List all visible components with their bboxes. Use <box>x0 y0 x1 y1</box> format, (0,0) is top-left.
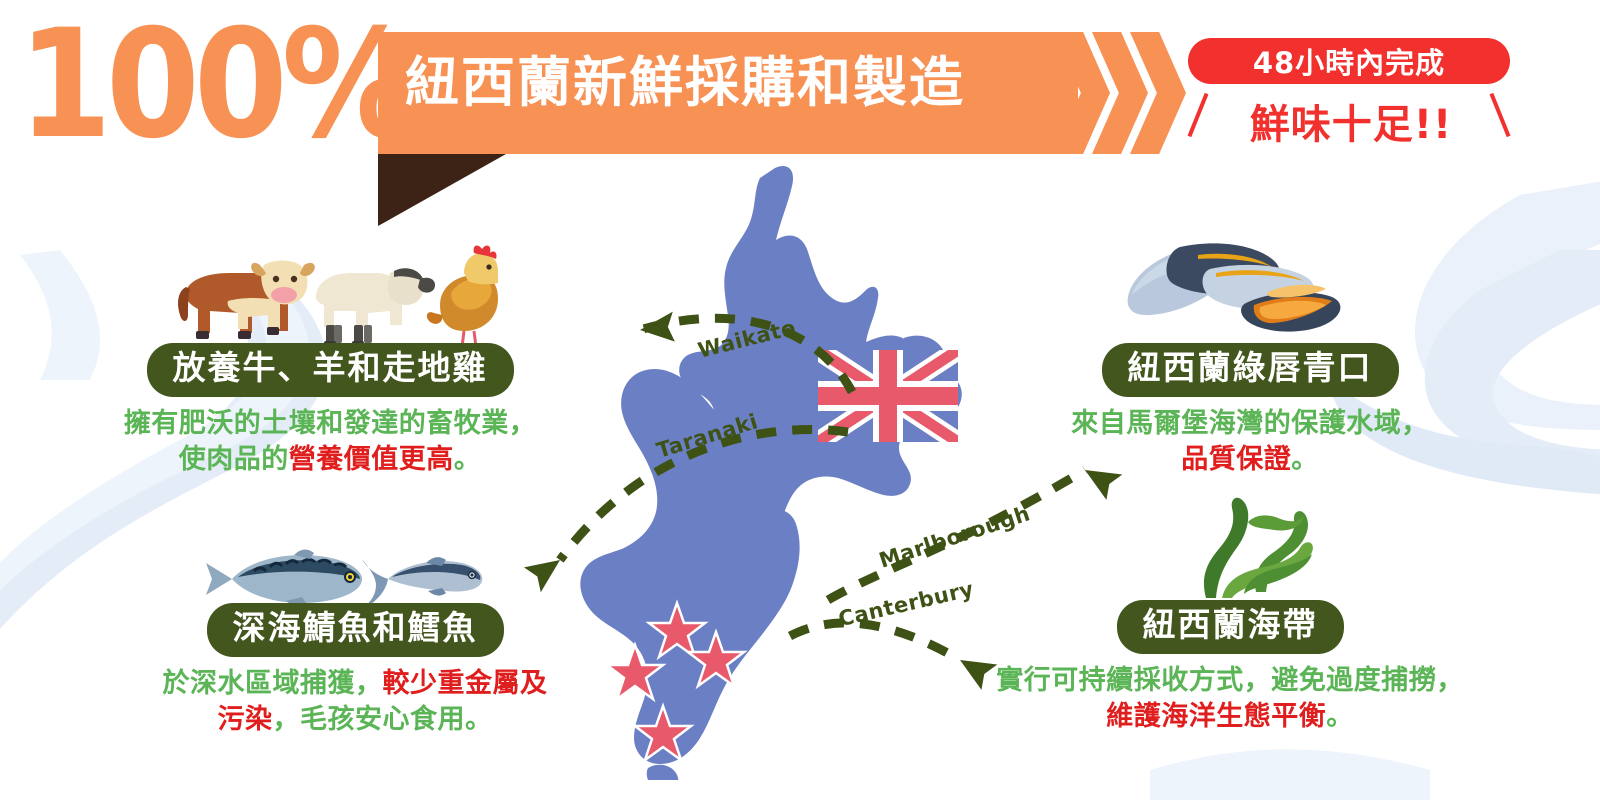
percent-100-heading: 100% <box>18 10 411 160</box>
kelp-description: 實行可持續採收方式，避免過度捕撈， 維護海洋生態平衡。 <box>960 663 1500 735</box>
livestock-desc-line2-pre: 使肉品的 <box>179 444 289 475</box>
kelp-desc-highlight: 維護海洋生態平衡 <box>1106 701 1326 732</box>
livestock-pill-label: 放養牛、羊和走地雞 <box>147 343 514 397</box>
banner-title: 紐西蘭新鮮採購和製造 <box>405 56 965 110</box>
info-block-mussel: 紐西蘭綠唇青口 來自馬爾堡海灣的保護水域， 品質保證。 <box>1010 343 1490 478</box>
fish-desc-line2-post: ，毛孩安心食用。 <box>273 704 493 735</box>
mussel-desc-highlight: 品質保證 <box>1181 444 1291 475</box>
kelp-seaweed-icon <box>1204 498 1313 598</box>
chicken-icon <box>427 246 498 347</box>
livestock-desc-line1: 擁有肥沃的土壤和發達的畜牧業， <box>124 408 537 439</box>
kelp-illustration <box>1160 480 1320 600</box>
kelp-desc-line2-post: 。 <box>1326 701 1354 732</box>
mussel-desc-line1: 來自馬爾堡海灣的保護水域， <box>1071 408 1429 439</box>
kelp-pill-label: 紐西蘭海帶 <box>1117 600 1344 654</box>
union-jack-icon <box>818 350 958 442</box>
sheep-icon <box>316 268 435 347</box>
mussel-pill-label: 紐西蘭綠唇青口 <box>1102 343 1399 397</box>
fish-pill-label: 深海鯖魚和鱈魚 <box>207 603 504 657</box>
livestock-desc-highlight: 營養價值更高 <box>289 444 454 475</box>
delivery-time-badge: 48小時內完成 <box>1188 38 1510 84</box>
mussel-desc-line2-post: 。 <box>1291 444 1319 475</box>
fish-desc-highlight-2: 污染 <box>218 704 273 735</box>
info-block-fish: 深海鯖魚和鱈魚 於深水區域捕獲，較少重金屬及 污染，毛孩安心食用。 <box>95 603 615 738</box>
fish-desc-line1-pre: 於深水區域捕獲， <box>163 668 383 699</box>
info-block-livestock: 放養牛、羊和走地雞 擁有肥沃的土壤和發達的畜牧業， 使肉品的營養價值更高。 <box>70 343 590 478</box>
ribbon-fold <box>378 154 506 226</box>
mussel-illustration <box>1120 225 1350 335</box>
livestock-description: 擁有肥沃的土壤和發達的畜牧業， 使肉品的營養價值更高。 <box>70 406 590 478</box>
mussel-description: 來自馬爾堡海灣的保護水域， 品質保證。 <box>1010 406 1490 478</box>
fish-description: 於深水區域捕獲，較少重金屬及 污染，毛孩安心食用。 <box>95 666 615 738</box>
cow-icon <box>178 261 315 340</box>
mackerel-icon <box>206 549 362 605</box>
info-block-kelp: 紐西蘭海帶 實行可持續採收方式，避免過度捕撈， 維護海洋生態平衡。 <box>960 600 1500 735</box>
hoki-fish-icon <box>362 557 482 609</box>
fish-desc-highlight-1: 較少重金屬及 <box>383 668 548 699</box>
livestock-desc-line2-post: 。 <box>454 444 482 475</box>
green-lipped-mussel-icon <box>1128 243 1341 331</box>
infographic-canvas: 100% 紐西蘭新鮮採購和製造 48小時內完成 鮮味十足!! <box>0 0 1600 800</box>
livestock-illustration <box>168 243 498 358</box>
delivery-time-badge-label: 48小時內完成 <box>1253 40 1445 82</box>
freshness-tagline: 鮮味十足!! <box>1206 92 1496 150</box>
kelp-desc-line1: 實行可持續採收方式，避免過度捕撈， <box>996 665 1464 696</box>
